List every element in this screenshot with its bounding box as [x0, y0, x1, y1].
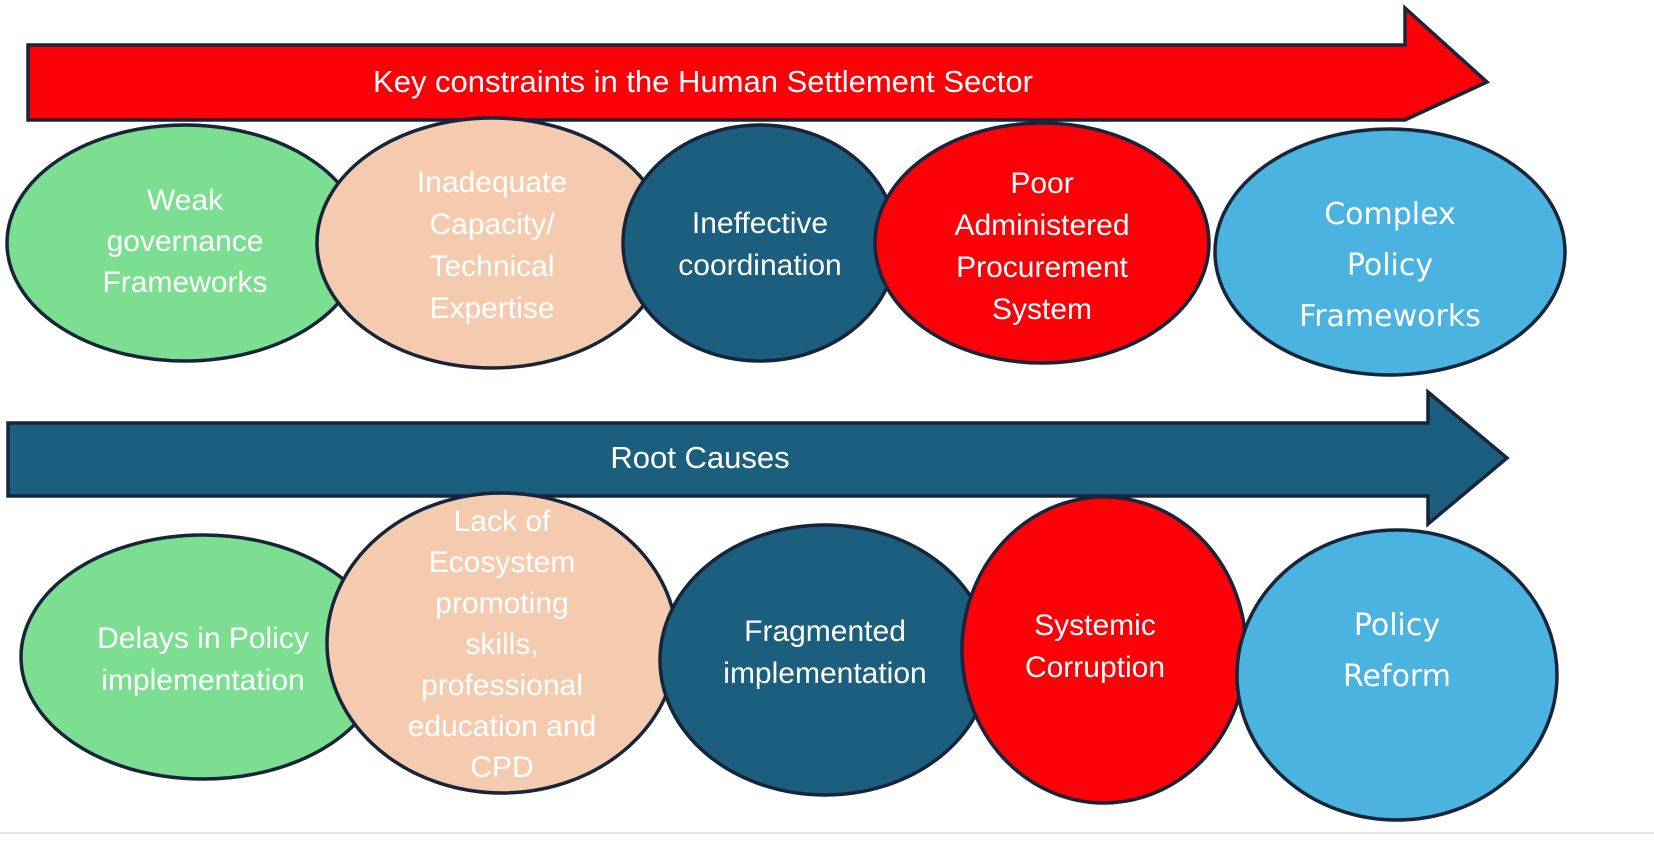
banner-root-causes[interactable]: Root Causes	[8, 392, 1507, 524]
node-ineffective-coordination[interactable]: Ineffective coordination	[623, 125, 897, 361]
node-weak-governance-frameworks-line-3: Frameworks	[102, 266, 267, 299]
node-inadequate-capacity-line-3: Technical	[429, 250, 554, 283]
node-inadequate-capacity-line-4: Expertise	[429, 292, 554, 325]
node-lack-of-ecosystem-line-1: Lack of	[454, 505, 551, 538]
node-fragmented-implementation[interactable]: Fragmented implementation	[660, 525, 990, 795]
banner-root-causes-label: Root Causes	[610, 440, 789, 475]
node-lack-of-ecosystem-line-7: CPD	[470, 751, 533, 784]
node-inadequate-capacity[interactable]: Inadequate Capacity/ Technical Expertise	[317, 118, 667, 368]
node-policy-reform-line-1: Policy	[1354, 608, 1440, 643]
node-fragmented-implementation-line-2: implementation	[723, 657, 926, 690]
node-ineffective-coordination-shape	[623, 125, 897, 361]
banner-key-constraints[interactable]: Key constraints in the Human Settlement …	[28, 8, 1487, 120]
node-complex-policy-frameworks-line-2: Policy	[1347, 248, 1433, 283]
key-constraints-row: Weak governance Frameworks Inadequate Ca…	[7, 118, 1565, 375]
node-lack-of-ecosystem-line-3: promoting	[435, 587, 568, 620]
node-poor-administered-procurement-system[interactable]: Poor Administered Procurement System	[875, 123, 1209, 363]
node-policy-reform-line-2: Reform	[1343, 659, 1451, 694]
diagram-canvas: Key constraints in the Human Settlement …	[0, 0, 1654, 844]
node-systemic-corruption-line-1: Systemic	[1034, 609, 1156, 642]
node-weak-governance-frameworks-line-1: Weak	[147, 184, 224, 217]
node-weak-governance-frameworks-line-2: governance	[107, 225, 264, 258]
human-settlement-constraints-diagram: Key constraints in the Human Settlement …	[0, 0, 1654, 844]
node-inadequate-capacity-shape	[317, 118, 667, 368]
node-complex-policy-frameworks-line-3: Frameworks	[1299, 299, 1481, 334]
node-systemic-corruption[interactable]: Systemic Corruption	[962, 497, 1246, 803]
node-policy-reform[interactable]: Policy Reform	[1237, 530, 1557, 820]
node-lack-of-ecosystem[interactable]: Lack of Ecosystem promoting skills, prof…	[327, 493, 677, 793]
node-inadequate-capacity-line-1: Inadequate	[417, 166, 567, 199]
node-complex-policy-frameworks-line-1: Complex	[1324, 197, 1456, 232]
banner-key-constraints-label: Key constraints in the Human Settlement …	[373, 64, 1033, 99]
node-lack-of-ecosystem-line-6: education and	[408, 710, 597, 743]
node-lack-of-ecosystem-line-5: professional	[421, 669, 583, 702]
node-poor-administered-procurement-system-line-1: Poor	[1010, 167, 1073, 200]
node-inadequate-capacity-line-2: Capacity/	[429, 208, 555, 241]
node-delays-in-policy-implementation-line-2: implementation	[101, 664, 304, 697]
node-systemic-corruption-shape	[962, 497, 1246, 803]
node-weak-governance-frameworks[interactable]: Weak governance Frameworks	[7, 125, 363, 361]
node-fragmented-implementation-line-1: Fragmented	[744, 615, 906, 648]
node-ineffective-coordination-line-2: coordination	[678, 249, 841, 282]
node-poor-administered-procurement-system-line-2: Administered	[954, 209, 1129, 242]
node-systemic-corruption-line-2: Corruption	[1025, 651, 1165, 684]
node-poor-administered-procurement-system-line-4: System	[992, 293, 1092, 326]
node-ineffective-coordination-line-1: Ineffective	[692, 207, 828, 240]
root-causes-row: Delays in Policy implementation Lack of …	[21, 493, 1557, 820]
node-poor-administered-procurement-system-shape	[875, 123, 1209, 363]
node-delays-in-policy-implementation-line-1: Delays in Policy	[97, 622, 309, 655]
node-complex-policy-frameworks[interactable]: Complex Policy Frameworks	[1215, 129, 1565, 375]
node-poor-administered-procurement-system-line-3: Procurement	[956, 251, 1128, 284]
node-lack-of-ecosystem-line-2: Ecosystem	[429, 546, 576, 579]
node-lack-of-ecosystem-line-4: skills,	[465, 628, 538, 661]
